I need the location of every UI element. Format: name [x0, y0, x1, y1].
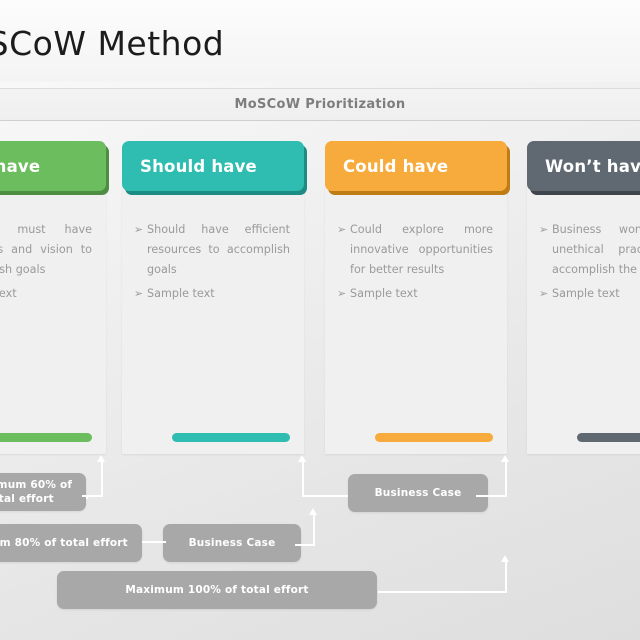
bullet-text: Sample text — [350, 284, 493, 304]
list-item: ➢ Sample text — [0, 284, 92, 304]
connector-arrow-must-have — [84, 455, 114, 497]
callout-business-case-1[interactable]: Business Case — [163, 524, 301, 562]
callout-business-case-2[interactable]: Business Case — [348, 474, 488, 512]
slide-canvas: MoSCoW Method MoSCoW Prioritization Must… — [0, 0, 640, 640]
title-band: MoSCoW Method — [0, 0, 640, 82]
bullet-arrow-icon: ➢ — [337, 220, 350, 280]
card-header-must-have[interactable]: Must have — [0, 141, 106, 191]
connector-line-60-stub — [86, 497, 112, 507]
callout-label: Maximum 80% of total effort — [0, 536, 128, 550]
card-accent-bar-could-have — [375, 433, 493, 442]
bullet-text: Should have efficient resources to accom… — [147, 220, 290, 280]
card-body-must-have: ➢ Business must have resources and visio… — [0, 198, 106, 308]
bullet-text: Sample text — [147, 284, 290, 304]
bullet-text: Business must have resources and vision … — [0, 220, 92, 280]
callout-effort-80[interactable]: Maximum 80% of total effort — [0, 524, 142, 562]
card-could-have[interactable]: Could have ➢ Could explore more innovati… — [325, 186, 507, 454]
bullet-text: Sample text — [552, 284, 640, 304]
connector-arrow-business-case-1 — [296, 508, 326, 548]
list-item: ➢ Sample text — [337, 284, 493, 304]
card-accent-bar-wont-have — [577, 433, 640, 442]
bullet-arrow-icon: ➢ — [539, 220, 552, 280]
bullet-text: Business won’t have unethical practices … — [552, 220, 640, 280]
card-body-should-have: ➢ Should have efficient resources to acc… — [122, 198, 304, 308]
card-header-label: Won’t have — [545, 157, 640, 176]
callout-label: Maximum 60% of total effort — [0, 478, 74, 506]
callout-effort-100[interactable]: Maximum 100% of total effort — [57, 571, 377, 609]
list-item: ➢ Sample text — [134, 284, 290, 304]
bullet-text: Sample text — [0, 284, 92, 304]
card-header-label: Must have — [0, 157, 40, 176]
connector-arrow-could-have — [488, 455, 548, 497]
connector-arrow-wont-have — [488, 555, 548, 593]
callout-label: Maximum 100% of total effort — [125, 583, 308, 597]
list-item: ➢ Business won’t have unethical practice… — [539, 220, 640, 280]
card-header-label: Should have — [140, 157, 257, 176]
card-header-should-have[interactable]: Should have — [122, 141, 304, 191]
bullet-arrow-icon: ➢ — [134, 220, 147, 280]
card-body-could-have: ➢ Could explore more innovative opportun… — [325, 198, 507, 308]
card-should-have[interactable]: Should have ➢ Should have efficient reso… — [122, 186, 304, 454]
card-header-label: Could have — [343, 157, 448, 176]
callout-effort-60[interactable]: Maximum 60% of total effort — [0, 473, 86, 511]
connector-line-80-to-business-case — [142, 537, 168, 547]
callout-label: Business Case — [375, 486, 462, 500]
list-item: ➢ Should have efficient resources to acc… — [134, 220, 290, 280]
subtitle-banner-label: MoSCoW Prioritization — [235, 97, 406, 112]
list-item: ➢ Business must have resources and visio… — [0, 220, 92, 280]
connector-arrow-should-have — [285, 455, 315, 497]
bullet-arrow-icon: ➢ — [337, 284, 350, 304]
subtitle-banner: MoSCoW Prioritization — [0, 88, 640, 121]
bullet-arrow-icon: ➢ — [134, 284, 147, 304]
bullet-arrow-icon: ➢ — [539, 284, 552, 304]
card-accent-bar-should-have — [172, 433, 290, 442]
card-body-wont-have: ➢ Business won’t have unethical practice… — [527, 198, 640, 308]
card-header-could-have[interactable]: Could have — [325, 141, 507, 191]
card-must-have[interactable]: Must have ➢ Business must have resources… — [0, 186, 106, 454]
card-accent-bar-must-have — [0, 433, 92, 442]
callout-label: Business Case — [189, 536, 276, 550]
page-title: MoSCoW Method — [0, 24, 224, 63]
bullet-text: Could explore more innovative opportunit… — [350, 220, 493, 280]
list-item: ➢ Could explore more innovative opportun… — [337, 220, 493, 280]
card-wont-have[interactable]: Won’t have ➢ Business won’t have unethic… — [527, 186, 640, 454]
card-header-wont-have[interactable]: Won’t have — [527, 141, 640, 191]
list-item: ➢ Sample text — [539, 284, 640, 304]
